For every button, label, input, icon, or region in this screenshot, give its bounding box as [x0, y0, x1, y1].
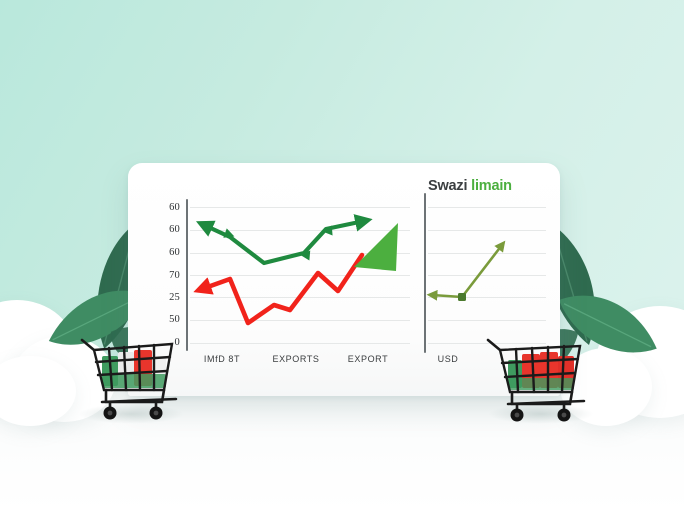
main-chart-plot [186, 193, 410, 358]
y-tick-label: 60 [142, 248, 180, 258]
side-title-part1: Swazi [428, 178, 467, 194]
series-usd-trend [432, 245, 502, 301]
y-tick-label: 60 [142, 225, 180, 235]
illustration-scene: 60 60 60 70 25 50 0 [0, 0, 684, 513]
cart-left [76, 330, 188, 422]
side-x-axis-label: USD [418, 354, 478, 364]
cart-wheels-left [104, 407, 163, 420]
x-axis-label: IMfD 8T [186, 354, 258, 364]
side-title-part2: limain [471, 178, 512, 194]
x-axis-label: EXPORTS [260, 354, 332, 364]
side-chart-plot [424, 193, 548, 355]
growth-arrowhead-icon [354, 223, 398, 271]
y-tick-label: 60 [142, 203, 180, 213]
y-tick-label: 50 [142, 315, 180, 325]
side-chart-title: Swazi limain [428, 178, 512, 194]
x-axis-label: EXPORT [332, 354, 404, 364]
series-red-trend [202, 255, 362, 323]
y-tick-label: 70 [142, 271, 180, 281]
series-green-trend [204, 221, 364, 263]
cart-wheels-right [511, 409, 571, 422]
cart-right [484, 332, 596, 424]
y-tick-label: 25 [142, 293, 180, 303]
